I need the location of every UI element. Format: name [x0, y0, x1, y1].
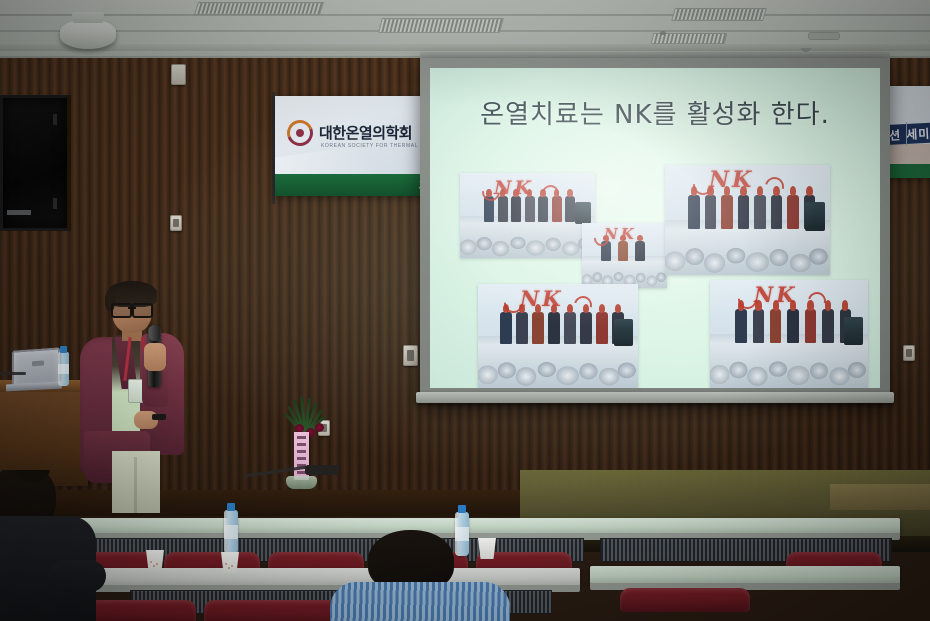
ceiling-speaker-icon	[60, 19, 116, 49]
air-vent-icon	[194, 2, 324, 15]
water-bottle	[224, 510, 238, 554]
nk-annotation: NK	[520, 286, 563, 311]
power-outlet-icon	[903, 345, 915, 361]
flower-icon	[315, 423, 324, 432]
audience-seat	[620, 588, 750, 612]
light-switch-icon	[403, 345, 418, 366]
nk-annotation: NK	[754, 282, 797, 307]
slide-photo: NK	[710, 280, 868, 388]
presentation-clicker-icon	[152, 414, 166, 420]
slide-photo: NK	[665, 165, 830, 275]
projection-screen: 온열치료는 NK를 활성화 한다. NK NK	[430, 68, 880, 388]
attendee-arm	[48, 560, 106, 592]
society-banner: 대한온열의학회 KOREAN SOCIETY FOR THERMAL MEDIC…	[275, 96, 442, 196]
air-vent-icon	[671, 8, 767, 21]
paper-cup	[146, 550, 164, 571]
presenter-hand-holding-mic	[144, 343, 166, 371]
conference-room-photo: 대한온열의학회 KOREAN SOCIETY FOR THERMAL MEDIC…	[0, 0, 930, 621]
list-item	[0, 470, 116, 621]
wall-mounted-tv	[0, 95, 71, 231]
slide-photo: NK	[478, 284, 638, 388]
list-item	[330, 520, 510, 621]
podium-cable	[0, 372, 26, 375]
slide-title: 온열치료는 NK를 활성화 한다.	[430, 94, 880, 131]
ceiling-sensor-icon	[660, 31, 666, 35]
laptop-brand-logo-icon	[32, 360, 44, 366]
ceiling-light-slot	[808, 32, 840, 40]
atom-logo-icon	[287, 120, 313, 146]
power-outlet-icon	[170, 215, 182, 231]
paper-cup	[221, 552, 239, 573]
nk-annotation: NK	[494, 177, 534, 199]
nk-annotation: NK	[709, 167, 754, 193]
banner-title-ko: 대한온열의학회	[319, 126, 412, 141]
air-vent-icon	[378, 18, 504, 33]
slide-photo: NK	[582, 223, 667, 288]
foliage	[282, 392, 328, 436]
water-bottle	[58, 352, 69, 386]
slide-photo: NK	[460, 173, 595, 258]
screen-weight-bar	[416, 392, 894, 403]
eyeglasses-icon	[111, 303, 153, 314]
audience-table	[590, 566, 900, 584]
attendee-body	[330, 582, 510, 621]
audience-area	[0, 470, 930, 621]
power-outlet-icon	[171, 64, 186, 85]
banner-green-band: 후	[275, 174, 442, 196]
